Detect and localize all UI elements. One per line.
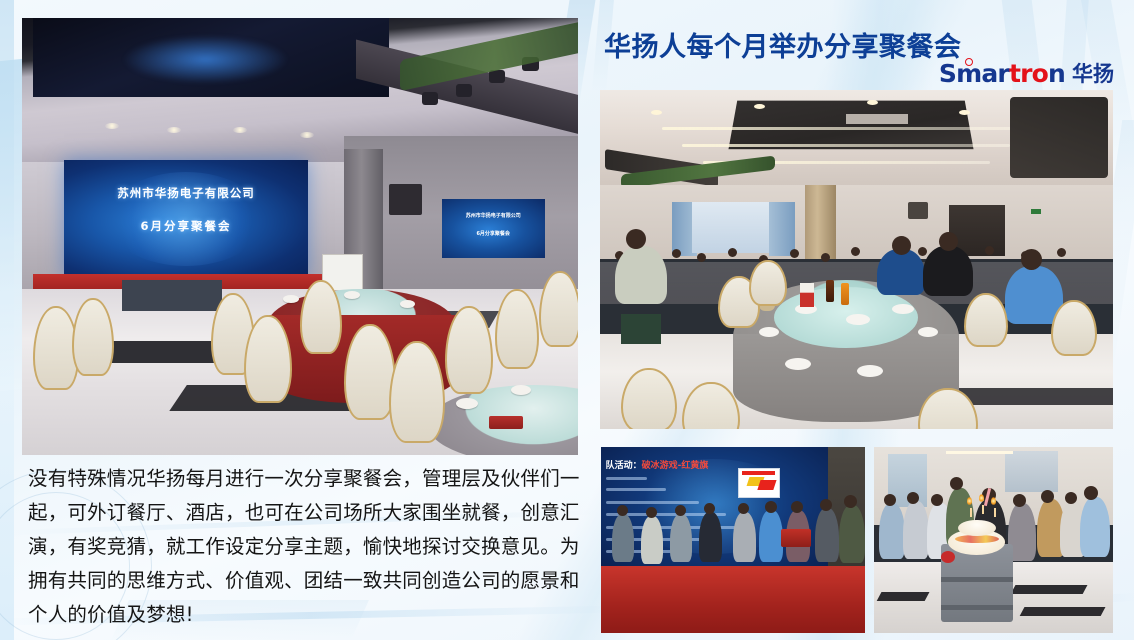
attendee-1 <box>879 503 905 559</box>
crowd-head-3 <box>672 249 681 258</box>
fg-chair-7 <box>1051 300 1097 356</box>
cake-ribbon <box>941 551 955 563</box>
photo-banquet-dining-crowd <box>600 90 1113 429</box>
participant-5-head <box>738 503 749 514</box>
screen-text-line-3 <box>606 501 699 504</box>
logo-ring-accent-icon <box>965 58 973 66</box>
dish-6 <box>785 358 811 370</box>
ceiling-screen-reflection <box>122 35 289 83</box>
participant-5 <box>733 512 756 562</box>
guest-navy-polo <box>877 249 925 295</box>
staff-waitress <box>615 246 667 304</box>
banquet-chair-6 <box>445 306 493 394</box>
attendee-7-head <box>1065 492 1077 504</box>
participant-7-head <box>791 501 803 513</box>
participant-2-head <box>646 507 657 518</box>
logo-text-blue-1: Smar <box>939 59 1009 88</box>
ceiling-light-strip <box>946 451 1013 454</box>
participant-6-head <box>765 501 777 513</box>
tableware-plate-4 <box>456 398 478 409</box>
secondary-led-screen: 苏州市华扬电子有限公司 6月分享聚餐会 <box>442 199 545 258</box>
menu-card-red <box>800 283 814 307</box>
screen-text-line-2 <box>606 488 666 491</box>
dish-3 <box>892 304 914 314</box>
guest-black-shirt <box>923 246 973 296</box>
screen-flag-illustration <box>738 468 779 497</box>
crowd-head-11 <box>918 247 927 256</box>
logo-chinese-name: 华扬 <box>1072 58 1114 88</box>
secondary-screen-company-name: 苏州市华扬电子有限公司 <box>442 212 545 219</box>
secondary-screen-event-name: 6月分享聚餐会 <box>442 230 545 237</box>
crowd-head-9 <box>851 247 860 256</box>
cart-shelf-low <box>941 605 1013 610</box>
attendee-5-head <box>1013 494 1026 507</box>
ceiling-downlight-2 <box>754 104 765 109</box>
screen-text-line-1 <box>606 477 648 480</box>
left-accent-facet <box>0 59 22 391</box>
birthday-cake-top-tier <box>958 520 996 537</box>
participant-4-head <box>704 503 715 514</box>
attendee-1-head <box>884 494 896 506</box>
participant-9 <box>839 505 865 563</box>
banquet-chair-7 <box>495 289 539 369</box>
wall-speaker-right <box>908 202 929 219</box>
floor-dark-tile-a <box>876 592 929 601</box>
ceiling-light-strip-1 <box>662 127 1031 130</box>
cart-shelf-mid <box>941 577 1013 582</box>
screen-company-name: 苏州市华扬电子有限公司 <box>64 185 309 201</box>
attendee-2 <box>903 501 929 559</box>
red-carpet <box>601 566 865 633</box>
stage-light-fixture-1 <box>422 92 438 105</box>
brand-logo: Smartron 华扬 <box>939 58 1114 88</box>
participant-6 <box>759 510 783 562</box>
floor-dark-tile-c <box>1020 607 1106 616</box>
crowd-head-5 <box>728 248 737 257</box>
ceiling-light-4 <box>300 132 314 138</box>
floor-dark-tile-b <box>1010 585 1087 594</box>
hvac-vent <box>846 114 908 124</box>
left-accent-band <box>0 0 14 640</box>
logo-wordmark: Smartron <box>939 59 1065 88</box>
attendee-3-head <box>931 494 943 506</box>
photo-birthday-cake-ceremony <box>874 447 1113 633</box>
guest-black-shirt-head <box>939 232 958 251</box>
crowd-head-13 <box>985 246 994 255</box>
screen-event-name: 6月分享聚餐会 <box>64 218 309 234</box>
cake-candle-1 <box>970 508 972 517</box>
exit-sign <box>1031 209 1041 214</box>
prize-box <box>781 529 811 547</box>
attendee-tan-shirt-head <box>1041 490 1054 503</box>
beverage-bottle-orange <box>841 283 849 305</box>
guest-light-blue-shirt-head <box>1021 249 1042 270</box>
participant-3-head <box>675 505 686 516</box>
flag-illustration-caption <box>742 471 775 475</box>
caption-text: 没有特殊情况华扬每月进行一次分享聚餐会，管理层及伙伴们一起，可外订餐厅、酒店，也… <box>28 462 584 632</box>
ceiling-light-strip-2 <box>682 144 1010 147</box>
page-title: 华扬人每个月举办分享聚餐会 <box>604 25 962 64</box>
scene-icebreaker: 队活动：破冰游戏-红黄旗 <box>601 447 865 633</box>
photo-icebreaker-game-lineup: 队活动：破冰游戏-红黄旗 <box>601 447 865 633</box>
stage-light-fixture-3 <box>489 70 505 83</box>
participant-4 <box>699 512 722 562</box>
screen-heading: 队活动：破冰游戏-红黄旗 <box>606 458 709 471</box>
scene-dining-hall <box>600 90 1113 429</box>
truss-light-cluster-right <box>1010 97 1107 178</box>
cake-candle-2 <box>982 505 984 514</box>
dish-7 <box>857 365 883 377</box>
participant-1 <box>612 514 634 562</box>
beverage-bottle-cola <box>826 280 834 302</box>
staff-apron <box>621 314 661 344</box>
attendee-blue-shirt <box>1080 497 1110 557</box>
staff-waitress-head <box>626 229 646 249</box>
tableware-plate-3 <box>400 300 415 308</box>
cake-candle-3 <box>994 508 996 517</box>
scene-cake-ceremony <box>874 447 1113 633</box>
ceiling-light-1 <box>105 123 119 129</box>
logo-text-blue-2: n <box>1048 59 1065 88</box>
gift-box-red <box>489 416 523 429</box>
participant-2 <box>641 516 663 564</box>
screen-heading-highlight: 破冰游戏-红黄旗 <box>642 461 709 471</box>
participant-1-head <box>617 505 628 516</box>
logo-text-red: tro <box>1009 59 1048 88</box>
wall-panel-right <box>1005 451 1058 492</box>
wall-speaker <box>389 184 422 215</box>
av-control-table <box>122 280 222 311</box>
participant-3 <box>670 514 692 562</box>
screen-heading-prefix: 队活动： <box>606 461 642 471</box>
crowd-head-15 <box>1057 248 1066 257</box>
photo-banquet-hall-led-screen: 苏州市华扬电子有限公司 6月分享聚餐会 苏州市华扬电子有限公司 6月分享聚餐会 <box>22 18 578 455</box>
main-led-screen: 苏州市华扬电子有限公司 6月分享聚餐会 <box>64 160 309 278</box>
participant-8 <box>815 508 839 562</box>
crowd-head-7 <box>790 249 799 258</box>
red-flag-icon <box>757 480 776 490</box>
slide-root: 华扬人每个月举办分享聚餐会 Smartron 华扬 苏州 <box>0 0 1134 640</box>
scene-banquet-hall: 苏州市华扬电子有限公司 6月分享聚餐会 苏州市华扬电子有限公司 6月分享聚餐会 <box>22 18 578 455</box>
dish-2 <box>846 314 870 325</box>
stage-light-fixture-2 <box>456 84 472 97</box>
banquet-chair-8 <box>539 271 578 347</box>
ceiling-dark-recess <box>729 100 974 149</box>
